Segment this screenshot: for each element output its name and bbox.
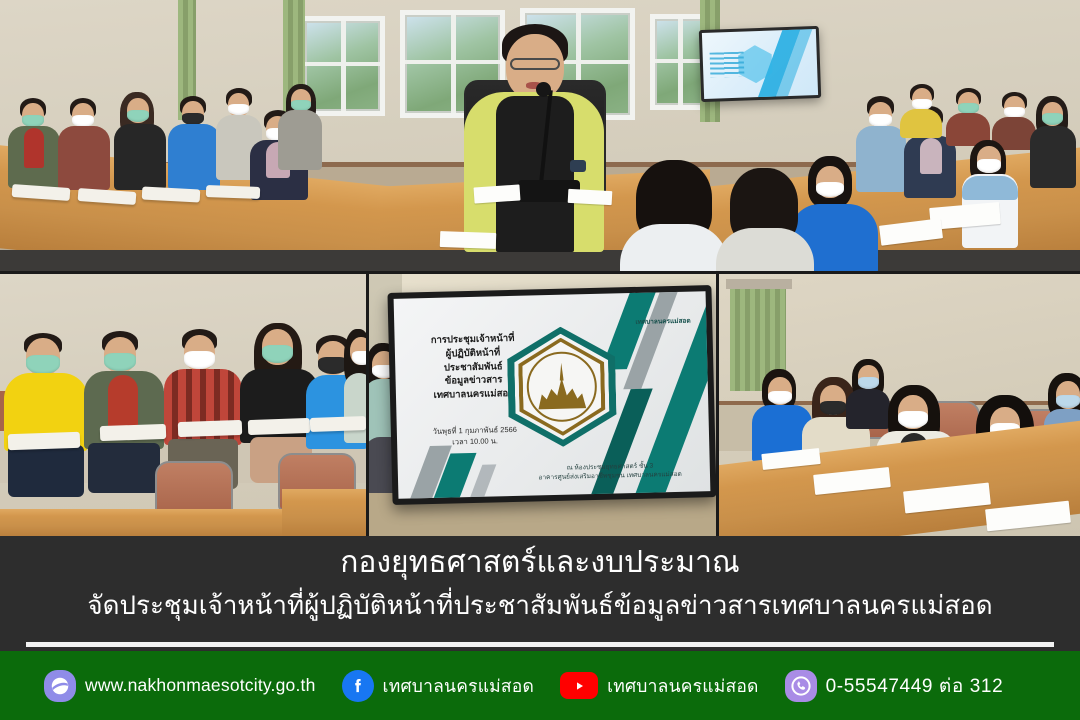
writing-tablet xyxy=(206,185,260,199)
caption-band: กองยุทธศาสตร์และงบประมาณ จัดประชุมเจ้าหน… xyxy=(0,536,1080,651)
document xyxy=(440,231,497,249)
attendee-back xyxy=(716,168,816,273)
document xyxy=(473,184,520,203)
attendee xyxy=(344,329,368,469)
photo-strip-bottom: เทศบาลนครแม่สอด การประชุมเจ้าหน้าที่ ผู้… xyxy=(0,273,1080,536)
photo-attendees-at-table xyxy=(718,273,1080,536)
eyeglasses xyxy=(510,58,560,70)
attendee xyxy=(112,92,170,190)
photo-seam xyxy=(366,273,369,536)
writing-tablet xyxy=(100,424,166,441)
wall-mounted-tv xyxy=(699,26,821,102)
phone-number: 0-55547449 ต่อ 312 xyxy=(826,671,1004,701)
conference-table xyxy=(282,489,368,536)
footer-item-facebook[interactable]: เทศบาลนครแม่สอด xyxy=(342,670,535,702)
website-url: www.nakhonmaesotcity.go.th xyxy=(85,675,316,696)
conference-table xyxy=(0,509,290,536)
youtube-channel-name: เทศบาลนครแม่สอด xyxy=(607,672,759,700)
photo-meeting-room-wide xyxy=(0,0,1080,273)
caption-line-1: กองยุทธศาสตร์และงบประมาณ xyxy=(0,544,1080,582)
attendee xyxy=(278,84,326,170)
photo-seam xyxy=(716,273,719,536)
footer-item-phone[interactable]: 0-55547449 ต่อ 312 xyxy=(785,670,1004,702)
facebook-icon xyxy=(342,670,374,702)
attendee xyxy=(1030,96,1080,188)
caption-line-2: จัดประชุมเจ้าหน้าที่ผู้ปฏิบัติหน้าที่ประ… xyxy=(0,588,1080,622)
footer-item-website[interactable]: www.nakhonmaesotcity.go.th xyxy=(44,670,316,702)
slide-title-lines xyxy=(709,51,744,77)
tv-screen xyxy=(702,29,818,99)
black-vest xyxy=(496,96,574,252)
writing-tablet xyxy=(178,420,242,437)
writing-tablet xyxy=(8,432,81,451)
photo-attendees-seated-row xyxy=(0,273,368,536)
writing-tablet xyxy=(310,416,366,432)
poster-root: เทศบาลนครแม่สอด การประชุมเจ้าหน้าที่ ผู้… xyxy=(0,0,1080,720)
photo-presentation-screen: เทศบาลนครแม่สอด การประชุมเจ้าหน้าที่ ผู้… xyxy=(368,273,718,536)
attendee xyxy=(946,88,994,146)
slide-org-label: เทศบาลนครแม่สอด xyxy=(635,316,690,327)
document xyxy=(568,189,613,205)
slide-content: เทศบาลนครแม่สอด การประชุมเจ้าหน้าที่ ผู้… xyxy=(394,291,711,499)
footer-item-youtube[interactable]: เทศบาลนครแม่สอด xyxy=(560,672,759,700)
attendee xyxy=(84,331,166,491)
curtain-rail xyxy=(726,279,792,289)
presentation-tv: เทศบาลนครแม่สอด การประชุมเจ้าหน้าที่ ผู้… xyxy=(387,285,716,505)
photo-seam xyxy=(0,271,1080,274)
youtube-icon xyxy=(560,672,598,699)
slide-venue: ณ ห้องประชุมยุทธศาสตร์ ชั้น 3 อาคารศูนย์… xyxy=(522,460,697,484)
caption-divider-rule xyxy=(26,642,1054,647)
attendee xyxy=(4,333,90,493)
microphone-head xyxy=(536,82,551,97)
viber-phone-icon xyxy=(785,670,817,702)
wristwatch xyxy=(570,160,586,172)
attendee-back xyxy=(620,160,730,273)
attendee xyxy=(8,98,64,188)
footer-contact-bar: www.nakhonmaesotcity.go.th เทศบาลนครแม่ส… xyxy=(0,651,1080,720)
attendee xyxy=(960,140,1022,248)
facebook-page-name: เทศบาลนครแม่สอด xyxy=(383,672,535,700)
attendee xyxy=(58,98,114,190)
attendee xyxy=(900,84,946,138)
writing-tablet xyxy=(248,418,310,435)
website-icon xyxy=(44,670,76,702)
municipal-seal xyxy=(506,325,617,448)
